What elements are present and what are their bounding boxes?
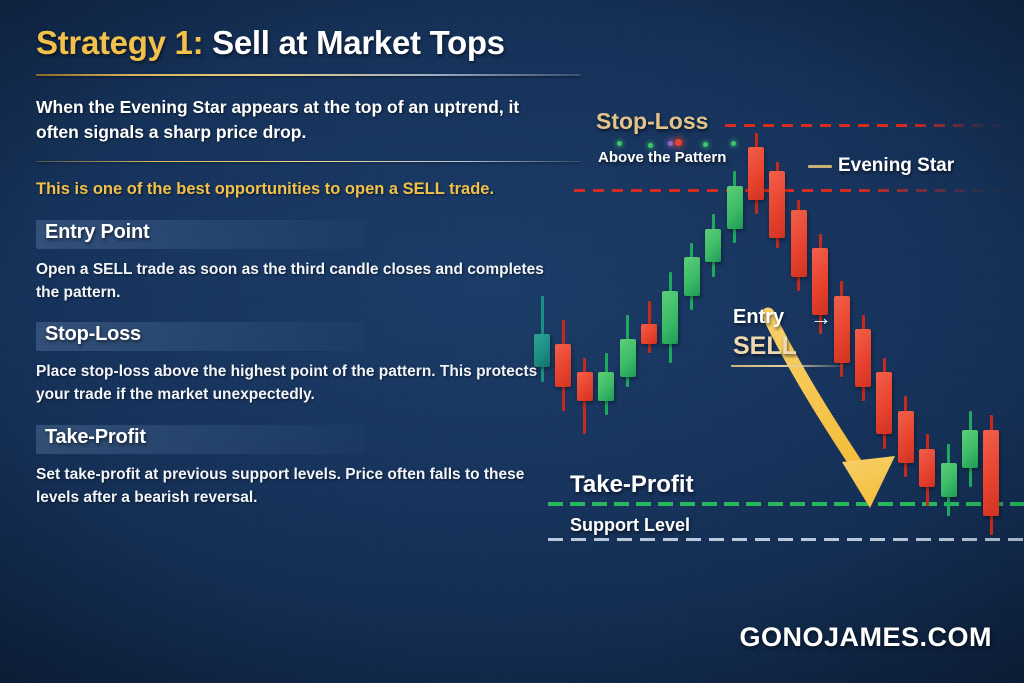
section-heading-take-profit: Take-Profit (45, 426, 146, 449)
evening-star-dash-icon (808, 165, 832, 168)
sparkle-marker-icon (648, 143, 653, 148)
intro-divider (36, 161, 581, 163)
chart-label-above-the-pattern: Above the Pattern (598, 149, 726, 166)
candle-body (705, 229, 721, 262)
intro-paragraph: When the Evening Star appears at the top… (36, 95, 556, 145)
chart-label-evening-star: Evening Star (838, 155, 954, 177)
candle-body (962, 430, 978, 468)
hook-paragraph: This is one of the best opportunities to… (36, 178, 556, 201)
page-title-rest: Sell at Market Tops (203, 24, 504, 61)
section-heading-band: Stop-Loss (36, 322, 366, 351)
candle-body (662, 291, 678, 344)
candle-body (769, 171, 785, 238)
sparkle-marker-icon (731, 141, 736, 146)
candle-body (598, 372, 614, 401)
left-content-column: Strategy 1: Sell at Market Tops When the… (36, 24, 556, 509)
section-heading-band: Take-Profit (36, 425, 366, 454)
brand-watermark: GONOJAMES.COM (739, 622, 992, 653)
sparkle-marker-icon (703, 142, 708, 147)
sparkle-marker-icon (617, 141, 622, 146)
section-take-profit: Take-Profit Set take-profit at previous … (36, 425, 556, 510)
section-stop-loss: Stop-Loss Place stop-loss above the high… (36, 322, 556, 407)
candle-body (983, 430, 999, 516)
candle-body (791, 210, 807, 277)
section-heading-entry-point: Entry Point (45, 221, 149, 244)
section-body-take-profit: Set take-profit at previous support leve… (36, 463, 556, 510)
infographic-canvas: Strategy 1: Sell at Market Tops When the… (0, 0, 1024, 683)
chart-label-entry: Entry (733, 306, 784, 329)
sparkle-marker-icon (668, 141, 673, 146)
candle-body (748, 147, 764, 200)
page-title-accent: Strategy 1: (36, 24, 203, 61)
chart-label-sell: SELL (733, 332, 797, 361)
candle-body (684, 257, 700, 295)
candle-body (620, 339, 636, 377)
section-heading-stop-loss: Stop-Loss (45, 323, 141, 346)
chart-label-support-level: Support Level (570, 515, 690, 536)
chart-label-take-profit: Take-Profit (570, 471, 694, 499)
sell-label-underline (731, 365, 843, 367)
candle-body (555, 344, 571, 387)
section-heading-band: Entry Point (36, 220, 366, 249)
chart-label-stop-loss: Stop-Loss (596, 108, 708, 135)
section-entry-point: Entry Point Open a SELL trade as soon as… (36, 220, 556, 305)
entry-arrow-icon: → (810, 305, 832, 331)
section-body-entry-point: Open a SELL trade as soon as the third c… (36, 258, 556, 305)
candle-body (577, 372, 593, 401)
sparkle-marker-red-icon (675, 139, 682, 146)
section-body-stop-loss: Place stop-loss above the highest point … (36, 360, 556, 407)
title-divider (36, 74, 581, 76)
candle-body (727, 186, 743, 229)
candle-body (641, 324, 657, 343)
page-title: Strategy 1: Sell at Market Tops (36, 24, 556, 62)
